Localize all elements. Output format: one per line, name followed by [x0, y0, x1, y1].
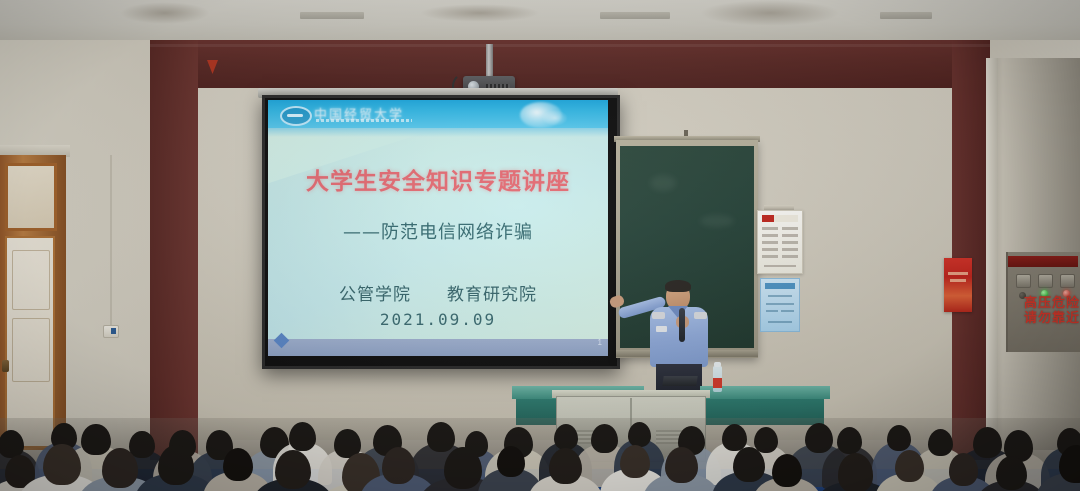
- blue-poster-header: [765, 283, 795, 289]
- audience-member-head: [554, 424, 578, 450]
- ceiling-stain: [700, 0, 840, 26]
- left-door-transom-window: [5, 163, 57, 231]
- slide-date: 2021.09.09: [268, 310, 608, 329]
- microphone: [679, 308, 685, 342]
- slide-page-number: 1: [598, 338, 602, 347]
- high-voltage-warning-line1: 高压危险: [1024, 296, 1080, 311]
- blackboard-smudge: [700, 215, 734, 227]
- blue-poster-line: [781, 310, 794, 312]
- blue-poster-line: [766, 310, 778, 312]
- beam-highlight: [150, 44, 990, 47]
- blackboard-smudge: [650, 175, 676, 191]
- slide-subtitle: ——防范电信网络诈骗: [268, 218, 608, 244]
- ceiling-vent: [880, 12, 932, 19]
- audience-member-head: [289, 422, 316, 451]
- audience-member-head: [928, 429, 953, 456]
- shoulder-epaulette-icon: [694, 312, 707, 319]
- audience-member-head: [102, 448, 138, 488]
- panel-switch[interactable]: [1038, 274, 1053, 288]
- notice-poster-line: [762, 227, 778, 230]
- projector-mount-pole: [486, 44, 493, 80]
- water-bottle-cap: [714, 362, 721, 367]
- wall-conduit: [110, 155, 112, 325]
- blue-poster-line: [768, 321, 792, 323]
- ceiling-stain: [120, 2, 210, 24]
- ceiling-vent: [300, 12, 364, 19]
- notice-poster-header: [762, 215, 798, 222]
- audience-member-head: [549, 448, 582, 484]
- panel-header-strip: [1008, 256, 1078, 267]
- laptop: [662, 376, 697, 386]
- speaker-hair: [665, 280, 691, 292]
- audience-member-head: [628, 422, 651, 447]
- audience-member-head: [497, 446, 525, 477]
- notice-poster-line: [782, 248, 798, 251]
- audience-member-head: [837, 427, 862, 454]
- audience-member-head: [158, 445, 194, 484]
- notice-poster-line: [762, 255, 778, 258]
- audience-member-head: [973, 427, 1002, 458]
- audience-member-head: [591, 424, 618, 453]
- right-beam: [952, 40, 990, 460]
- audience-member-head: [0, 430, 24, 459]
- audience-member-head: [805, 423, 833, 454]
- slide-organizations: 公管学院 教育研究院: [268, 280, 608, 305]
- chest-badge-icon: [656, 326, 667, 332]
- audience-member-head: [772, 454, 802, 487]
- audience-member-head: [887, 425, 911, 451]
- lecture-hall-photo: 中国经贸大学 大学生安全知识专题讲座 ——防范电信网络诈骗 公管学院 教育研究院…: [0, 0, 1080, 491]
- shoulder-epaulette-icon: [652, 312, 665, 319]
- audience-member-head: [996, 456, 1027, 490]
- ceiling-stain: [420, 4, 540, 22]
- right-door-jamb: [986, 58, 998, 450]
- blue-poster-line: [768, 295, 792, 297]
- notice-poster-line: [762, 248, 778, 251]
- slide-footer-band: [268, 339, 608, 356]
- audience-member-head: [620, 445, 650, 478]
- left-door-handle[interactable]: [2, 360, 9, 372]
- red-banner-poster: [944, 258, 972, 312]
- presentation-slide: 中国经贸大学 大学生安全知识专题讲座 ——防范电信网络诈骗 公管学院 教育研究院…: [268, 100, 608, 356]
- ceiling-beam: [150, 40, 990, 88]
- left-door-panel-inset: [12, 250, 50, 310]
- high-voltage-warning: 高压危险 请勿靠近: [1024, 296, 1080, 326]
- high-voltage-warning-line2: 请勿靠近: [1024, 311, 1080, 326]
- slide-header-fade: [268, 128, 608, 137]
- blue-notice-poster: [760, 278, 800, 332]
- audience-member-head: [722, 424, 747, 451]
- left-door-panel-inset: [12, 318, 50, 382]
- slide-title: 大学生安全知识专题讲座: [268, 162, 608, 196]
- audience-member-head: [382, 447, 416, 484]
- audience-member-head: [838, 453, 874, 491]
- notice-poster: [757, 210, 803, 274]
- audience-member-head: [444, 447, 482, 489]
- ceiling-vent: [600, 12, 670, 19]
- notice-poster-line: [782, 255, 798, 258]
- audience-member-head: [81, 424, 110, 456]
- notice-poster-line: [762, 241, 778, 244]
- audience-member-head: [43, 444, 80, 485]
- light-switch[interactable]: [103, 325, 119, 338]
- red-banner-line: [948, 272, 968, 275]
- university-logo-subline: [316, 119, 412, 122]
- notice-poster-line: [762, 234, 778, 237]
- audience-member-head: [949, 453, 979, 486]
- notice-poster-line: [782, 234, 798, 237]
- audience-member-head: [427, 422, 455, 452]
- university-logo-icon: [280, 106, 312, 126]
- notice-poster-line: [764, 265, 796, 267]
- audience-member-head: [895, 450, 924, 482]
- red-banner-line: [950, 279, 966, 282]
- audience-member-head: [275, 450, 311, 489]
- panel-switch[interactable]: [1060, 274, 1075, 288]
- water-bottle-label: [713, 378, 722, 388]
- notice-poster-line: [782, 241, 798, 244]
- left-beam: [150, 40, 198, 460]
- audience-area: [0, 418, 1080, 491]
- notice-poster-line: [782, 227, 798, 230]
- panel-switch[interactable]: [1016, 274, 1031, 288]
- blue-poster-line: [766, 303, 794, 305]
- audience-member-head: [223, 448, 254, 482]
- slide-header-decoration: [542, 110, 568, 126]
